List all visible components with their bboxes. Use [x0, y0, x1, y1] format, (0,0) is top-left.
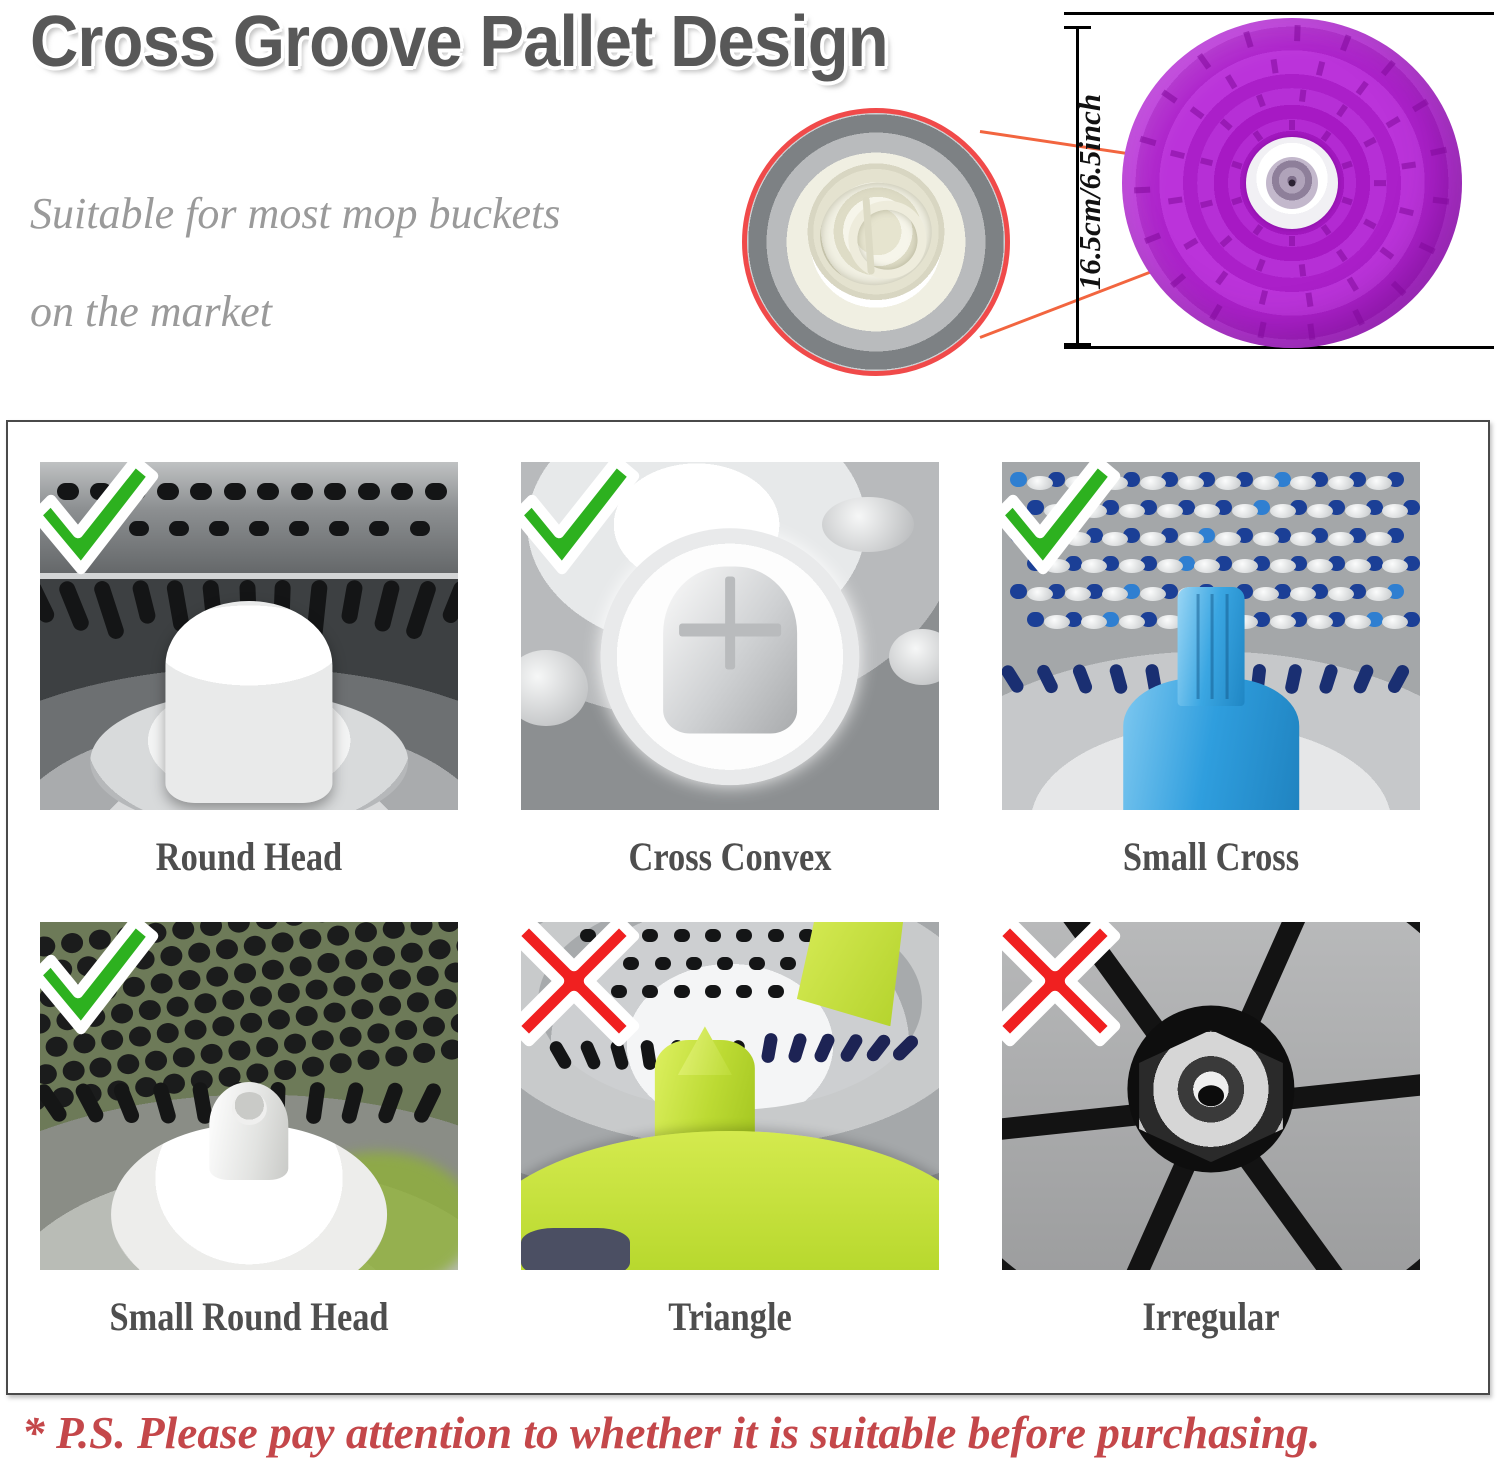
- blue-slot: [1284, 663, 1303, 695]
- disc-rib: [1386, 116, 1401, 128]
- drum-hole: [749, 957, 765, 970]
- emboss: [1157, 559, 1183, 573]
- emboss: [1232, 504, 1258, 518]
- mesh-hole: [344, 948, 368, 971]
- emboss: [1382, 504, 1408, 518]
- emboss: [1328, 476, 1354, 490]
- bucket-hub-photo-small-cross: [1002, 462, 1420, 810]
- subtitle-line-2: on the market: [30, 263, 730, 361]
- compatibility-panel: Round Head: [6, 420, 1490, 1395]
- mesh-hole: [388, 968, 412, 991]
- mesh-hole: [354, 922, 378, 944]
- disc-rib: [1161, 89, 1178, 103]
- mesh-hole: [434, 988, 458, 1011]
- disc-rib: [1430, 147, 1447, 156]
- mesh-hole: [211, 1015, 235, 1038]
- drum-slot: [404, 579, 438, 641]
- emboss: [1290, 587, 1316, 601]
- disc-rib: [1336, 104, 1348, 117]
- mesh-hole: [323, 1002, 347, 1025]
- drum-hole: [717, 957, 733, 970]
- blue-slot: [1108, 663, 1129, 695]
- mesh-hole: [310, 922, 334, 924]
- disc-rib: [1363, 137, 1376, 148]
- drum-hole: [291, 483, 313, 500]
- disc-rib: [1341, 197, 1352, 206]
- mesh-hole: [261, 958, 285, 981]
- drum-hole: [358, 483, 380, 500]
- mesh-hole: [384, 1045, 408, 1068]
- disc-rib: [1401, 162, 1416, 170]
- blue-slot: [1318, 663, 1339, 696]
- emboss: [1328, 532, 1354, 546]
- disc-rib: [1183, 238, 1198, 250]
- disc-rib: [1307, 323, 1315, 340]
- mesh-hole: [289, 955, 313, 978]
- emboss: [1382, 615, 1408, 629]
- disc-rib: [1412, 99, 1429, 112]
- emboss: [1270, 559, 1296, 573]
- mesh-hole: [172, 1046, 196, 1069]
- disc-rib: [1170, 273, 1186, 288]
- emboss: [1253, 476, 1279, 490]
- mesh-hole: [406, 991, 430, 1014]
- dimension-tick-top: [1064, 26, 1091, 29]
- compatibility-item: Cross Convex: [521, 448, 939, 908]
- blue-dot: [1027, 612, 1044, 627]
- mesh-hole: [444, 961, 458, 984]
- mesh-hole: [243, 935, 267, 958]
- compatibility-item: Small Round Head: [40, 908, 458, 1368]
- drum-hole: [391, 483, 413, 500]
- mesh-hole: [239, 1012, 263, 1035]
- blue-slot: [1386, 663, 1412, 696]
- mesh-hole: [361, 971, 385, 994]
- check-icon: [40, 922, 168, 1056]
- subtitle: Suitable for most mop buckets on the mar…: [30, 165, 730, 361]
- emboss: [1290, 532, 1316, 546]
- drum-hole: [324, 483, 346, 500]
- emboss: [1140, 476, 1166, 490]
- mesh-hole: [305, 978, 329, 1001]
- disc-rib: [1321, 224, 1332, 236]
- disc-rib: [1347, 277, 1359, 292]
- disc-rib: [1215, 270, 1228, 285]
- compatibility-item: Triangle: [521, 908, 939, 1368]
- mesh-hole: [273, 1059, 297, 1082]
- cross-rib-horizontal: [679, 623, 781, 636]
- mesh-hole: [40, 1063, 58, 1086]
- disc-rib: [1363, 219, 1376, 230]
- drum-hole: [674, 985, 690, 998]
- disc-cross-groove-hub: [1266, 157, 1318, 209]
- mesh-hole: [255, 922, 279, 930]
- compatibility-item-label: Small Cross: [1031, 833, 1390, 880]
- mesh-hole: [356, 1049, 380, 1072]
- mesh-hole: [427, 938, 451, 961]
- emboss: [1366, 587, 1392, 601]
- check-icon: [1002, 462, 1130, 596]
- mesh-hole: [395, 1018, 419, 1041]
- drum-hole: [257, 483, 279, 500]
- emboss: [1345, 615, 1371, 629]
- mesh-hole: [227, 922, 251, 934]
- emboss: [1253, 532, 1279, 546]
- drum-hole: [425, 483, 447, 500]
- disc-rib: [1419, 242, 1436, 254]
- disc-rib: [1200, 200, 1213, 209]
- disc-rib: [1433, 197, 1450, 205]
- emboss: [1119, 615, 1145, 629]
- bucket-hub-photo-irregular: [1002, 922, 1420, 1270]
- mesh-hole: [422, 1015, 446, 1038]
- disc-rib: [1200, 157, 1213, 166]
- mesh-hole: [316, 951, 340, 974]
- disc-rib: [1209, 304, 1222, 321]
- mesh-hole: [216, 938, 240, 961]
- emboss: [1366, 476, 1392, 490]
- mesh-hole: [250, 985, 274, 1008]
- round-head-post: [165, 601, 332, 803]
- disc-rib: [1253, 224, 1264, 236]
- mesh-hole: [400, 941, 424, 964]
- disc-rib: [1134, 187, 1150, 194]
- compatibility-grid: Round Head: [40, 448, 1460, 1368]
- compatibility-item-label: Irregular: [1031, 1293, 1390, 1340]
- chrome-dimple: [822, 497, 914, 553]
- compatibility-item: Round Head: [40, 448, 458, 908]
- drum-hole: [736, 985, 752, 998]
- drum-hole: [736, 929, 752, 942]
- emboss: [1215, 476, 1241, 490]
- disc-rib: [1253, 130, 1264, 142]
- disc-rib: [1289, 236, 1295, 246]
- blue-slot: [1071, 662, 1094, 695]
- blue-slot: [1035, 663, 1060, 696]
- drum-hole: [780, 957, 796, 970]
- emboss: [1178, 532, 1204, 546]
- emboss: [1194, 559, 1220, 573]
- mesh-hole: [283, 1032, 307, 1055]
- cross-icon: [521, 922, 649, 1056]
- drum-hole: [289, 521, 309, 536]
- mesh-hole: [171, 922, 195, 941]
- magnifier-closeup-photo: [742, 108, 1010, 376]
- drum-slot: [412, 1081, 444, 1125]
- emboss: [1157, 504, 1183, 518]
- disc-rib: [1340, 34, 1351, 51]
- mesh-hole: [228, 1039, 252, 1062]
- mesh-hole: [329, 1052, 353, 1075]
- mesh-hole: [233, 962, 257, 985]
- emboss: [1270, 615, 1296, 629]
- disc-rib: [1220, 235, 1233, 247]
- small-cross-spline: [1178, 587, 1245, 705]
- drum-hole: [209, 521, 229, 536]
- compatibility-item-label: Round Head: [69, 833, 428, 880]
- disc-rib: [1243, 31, 1253, 48]
- mesh-hole: [166, 995, 190, 1018]
- drum-hole: [768, 985, 784, 998]
- emboss: [1270, 504, 1296, 518]
- disc-rib: [1316, 61, 1325, 76]
- drum-hole: [768, 929, 784, 942]
- mesh-hole: [271, 931, 295, 954]
- bucket-hub-photo-round-head: [40, 462, 458, 810]
- disc-rib: [1374, 180, 1386, 186]
- disc-rib: [1399, 207, 1414, 216]
- chrome-dimple: [889, 629, 939, 685]
- drum-hole: [705, 985, 721, 998]
- drum-hole: [190, 483, 212, 500]
- subtitle-line-1: Suitable for most mop buckets: [30, 189, 560, 238]
- mesh-hole: [184, 1019, 208, 1042]
- disc-rib: [1139, 136, 1156, 146]
- drum-hole: [686, 957, 702, 970]
- emboss: [1140, 587, 1166, 601]
- cross-convex-hub: [663, 566, 797, 733]
- mesh-hole: [333, 975, 357, 998]
- emboss: [1328, 587, 1354, 601]
- drum-hole: [655, 957, 671, 970]
- disc-rib: [1190, 106, 1205, 119]
- emboss: [1307, 559, 1333, 573]
- disc-rib: [1231, 161, 1242, 170]
- drum-slot: [440, 579, 458, 626]
- mesh-hole: [378, 995, 402, 1018]
- page-title: Cross Groove Pallet Design: [30, 6, 888, 78]
- disc-rib: [1197, 53, 1211, 69]
- infographic-page: Cross Groove Pallet Design Suitable for …: [0, 0, 1500, 1476]
- emboss: [1307, 504, 1333, 518]
- mesh-hole: [382, 922, 406, 940]
- disc-rib: [1256, 259, 1266, 272]
- disc-rib: [1321, 130, 1332, 142]
- mesh-hole: [339, 1025, 363, 1048]
- drum-slot: [340, 579, 363, 625]
- disc-rib: [1170, 150, 1185, 159]
- mesh-hole: [282, 922, 306, 927]
- mesh-hole: [89, 1056, 113, 1079]
- dimension-rule-top: [1064, 12, 1494, 15]
- disc-rib: [1381, 60, 1396, 76]
- disc-rib: [1294, 25, 1301, 41]
- mesh-hole: [372, 945, 396, 968]
- check-icon: [40, 462, 168, 596]
- mesh-hole: [412, 1042, 436, 1065]
- mesh-hole: [61, 1059, 85, 1082]
- disc-rib: [1299, 264, 1306, 277]
- mesh-hole: [455, 934, 458, 957]
- dimension-tick-bottom: [1064, 343, 1091, 346]
- compatibility-item: Small Cross: [1002, 448, 1420, 908]
- emboss: [1178, 476, 1204, 490]
- compatibility-item-label: Small Round Head: [69, 1293, 428, 1340]
- mesh-hole: [277, 982, 301, 1005]
- blue-slot: [1002, 663, 1026, 695]
- disc-rib: [1352, 309, 1364, 326]
- cross-groove-socket-detail: [811, 173, 942, 296]
- compatibility-item: Irregular: [1002, 908, 1420, 1368]
- emboss: [1366, 532, 1392, 546]
- emboss: [1194, 504, 1220, 518]
- mesh-hole: [367, 1022, 391, 1045]
- drum-hole: [410, 521, 430, 536]
- disc-rib: [1356, 81, 1369, 96]
- mesh-hole: [222, 989, 246, 1012]
- disc-rib: [1336, 249, 1348, 262]
- emboss: [1290, 476, 1316, 490]
- chrome-dimple: [521, 650, 588, 727]
- mesh-hole: [301, 1055, 325, 1078]
- disc-rib: [1259, 290, 1268, 305]
- mesh-hole: [438, 922, 458, 933]
- mesh-hole: [410, 922, 434, 937]
- drum-hole: [249, 521, 269, 536]
- mesh-hole: [194, 992, 218, 1015]
- drum-slot: [373, 579, 401, 633]
- mesh-hole: [327, 925, 351, 948]
- disc-rib: [1168, 196, 1183, 204]
- mesh-hole: [267, 1008, 291, 1031]
- mesh-hole: [199, 922, 223, 937]
- mesh-hole: [177, 968, 201, 991]
- disc-rib: [1341, 161, 1352, 170]
- mesh-hole: [188, 942, 212, 965]
- disc-rib: [1305, 292, 1313, 307]
- disc-rib: [1289, 120, 1295, 130]
- bucket-hub-photo-small-round-head: [40, 922, 458, 1270]
- disc-rib: [1225, 74, 1237, 89]
- mesh-hole: [450, 1012, 458, 1035]
- disc-rib: [1299, 89, 1306, 102]
- disc-rib: [1379, 247, 1394, 260]
- drum-hole: [224, 483, 246, 500]
- disc-rib: [1391, 281, 1407, 297]
- emboss: [1345, 504, 1371, 518]
- mesh-hole: [299, 928, 323, 951]
- emboss: [1044, 615, 1070, 629]
- mesh-hole: [311, 1029, 335, 1052]
- bucket-hub-photo-triangle: [521, 922, 939, 1270]
- check-icon: [521, 462, 649, 596]
- drum-hole: [705, 929, 721, 942]
- drum-hole: [674, 929, 690, 942]
- emboss: [1382, 559, 1408, 573]
- mesh-hole: [416, 965, 440, 988]
- disc-rib: [1257, 322, 1266, 339]
- mesh-hole: [440, 1038, 458, 1061]
- emboss: [1345, 559, 1371, 573]
- mesh-hole: [350, 998, 374, 1021]
- disc-rib: [1271, 59, 1279, 74]
- disc-rib: [1144, 233, 1161, 244]
- mesh-hole: [200, 1042, 224, 1065]
- emboss: [1081, 615, 1107, 629]
- disc-rib: [1231, 197, 1242, 206]
- emboss: [1215, 532, 1241, 546]
- disc-rib: [1256, 94, 1266, 107]
- purple-pallet-disc-photo: [1122, 18, 1462, 348]
- disc-rib: [1220, 118, 1233, 130]
- drum-hole: [169, 521, 189, 536]
- header-section: Cross Groove Pallet Design Suitable for …: [0, 0, 1500, 410]
- small-round-head-nub: [209, 1082, 288, 1179]
- dimension-label: 16.5cm/6.5inch: [1072, 42, 1108, 342]
- mesh-hole: [256, 1035, 280, 1058]
- compatibility-item-label: Cross Convex: [550, 833, 909, 880]
- footer-note: * P.S. Please pay attention to whether i…: [22, 1406, 1470, 1459]
- drum-hole: [369, 521, 389, 536]
- drum-slot: [376, 1081, 404, 1126]
- mesh-hole: [205, 965, 229, 988]
- emboss: [1232, 559, 1258, 573]
- emboss: [1307, 615, 1333, 629]
- compatibility-item-label: Triangle: [550, 1293, 909, 1340]
- bucket-shadow: [521, 1228, 630, 1270]
- emboss: [1253, 587, 1279, 601]
- dimension-bracket: 16.5cm/6.5inch: [1058, 14, 1094, 358]
- mesh-hole: [295, 1005, 319, 1028]
- bucket-hub-photo-cross-convex: [521, 462, 939, 810]
- drum-hole: [329, 521, 349, 536]
- emboss: [1140, 532, 1166, 546]
- blue-slot: [1352, 662, 1376, 695]
- cross-icon: [1002, 922, 1130, 1056]
